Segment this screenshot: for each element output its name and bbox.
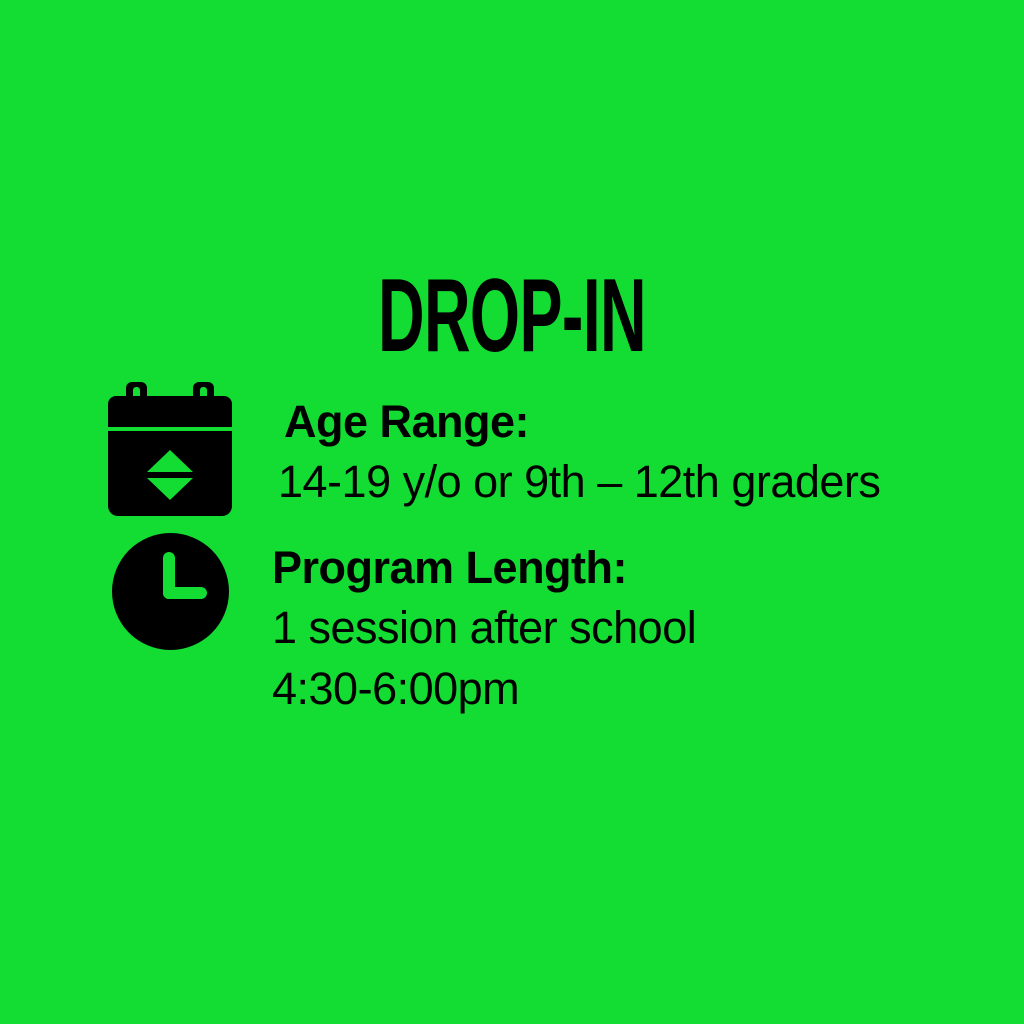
age-range-value: 14-19 y/o or 9th – 12th graders	[278, 451, 880, 512]
clock-icon-slot	[108, 533, 232, 653]
drop-in-info-poster: DROP-IN Age Range: 14-19 y/o or 9th – 12…	[0, 0, 1024, 1024]
program-length-text-block: Program Length: 1 session after school 4…	[272, 533, 696, 719]
program-length-time: 4:30-6:00pm	[272, 658, 696, 719]
calendar-header-band	[108, 396, 232, 427]
age-range-text-block: Age Range: 14-19 y/o or 9th – 12th grade…	[278, 382, 880, 512]
calendar-icon	[108, 382, 232, 516]
info-row-program-length: Program Length: 1 session after school 4…	[108, 533, 696, 719]
info-row-age-range: Age Range: 14-19 y/o or 9th – 12th grade…	[108, 382, 880, 516]
program-length-heading: Program Length:	[272, 539, 696, 597]
calendar-body	[108, 431, 232, 516]
arrow-down-icon	[147, 478, 193, 500]
age-range-heading: Age Range:	[284, 393, 880, 451]
program-length-sessions: 1 session after school	[272, 597, 696, 658]
page-title: DROP-IN	[195, 264, 830, 368]
calendar-icon-slot	[108, 382, 232, 516]
clock-hour-hand	[163, 587, 207, 599]
arrow-up-icon	[147, 450, 193, 472]
clock-icon	[112, 533, 229, 650]
